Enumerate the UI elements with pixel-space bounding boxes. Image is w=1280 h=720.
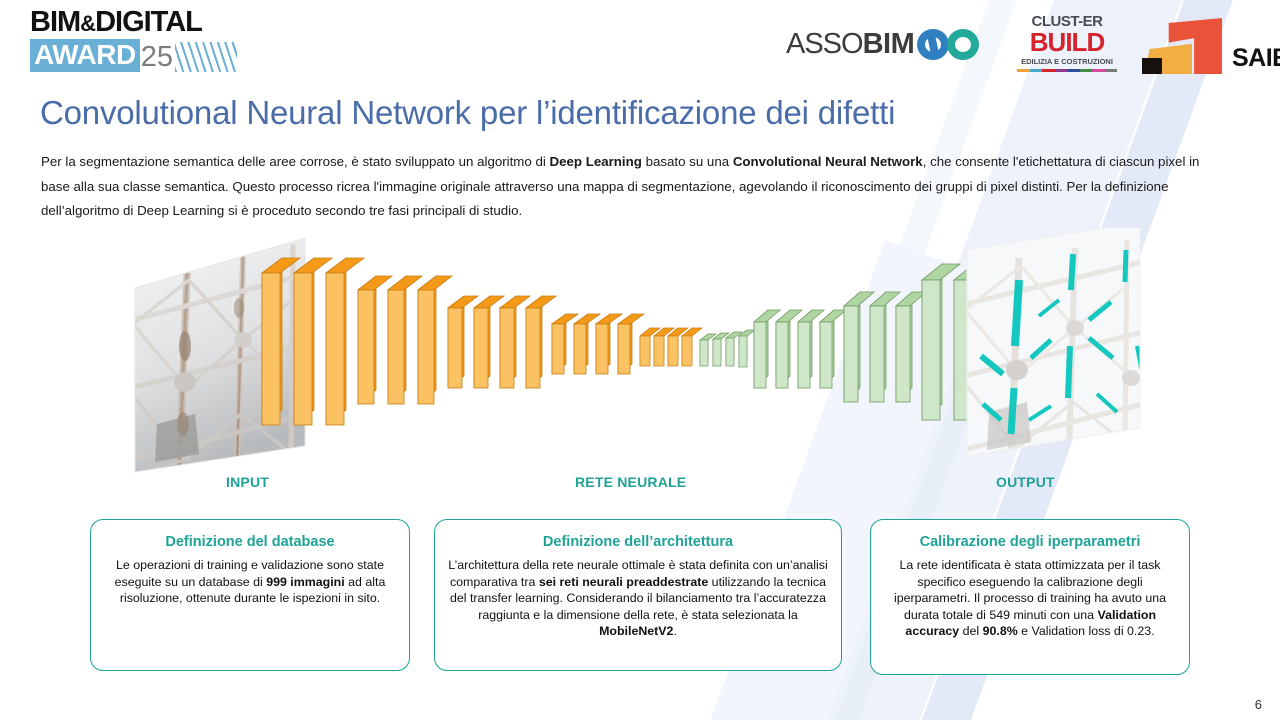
- cnn-architecture-diagram: [0, 228, 1280, 490]
- bda-ampersand: &: [80, 11, 95, 36]
- card-1-title: Definizione del database: [103, 534, 397, 550]
- cluster-color-strip-icon: [1017, 69, 1117, 72]
- card-1-body: Le operazioni di training e validazione …: [103, 557, 397, 607]
- cnn-diagram-svg: [0, 228, 1280, 490]
- page-title: Convolutional Neural Network per l’ident…: [40, 94, 895, 132]
- bda-second-row: AWARD 25: [30, 39, 245, 72]
- card-calibrazione-iperparametri: Calibrazione degli iperparametri La rete…: [870, 519, 1190, 675]
- card-3-text-c: e Validation loss di 0.23.: [1018, 624, 1155, 638]
- card-definizione-database: Definizione del database Le operazioni d…: [90, 519, 410, 671]
- assobim-bim-text: BIM: [863, 28, 915, 61]
- saie-wordmark-text: SAIE: [1232, 44, 1280, 73]
- bda-year-text: 25: [140, 43, 173, 72]
- card-2-body: L’architettura della rete neurale ottima…: [447, 557, 829, 640]
- header-logo-bar: BIM&DIGITAL AWARD 25 ASSOBIM CLUST-ER BU…: [0, 0, 1280, 92]
- card-1-bold-999-immagini: 999 immagini: [266, 575, 345, 589]
- page-number: 6: [1255, 697, 1262, 712]
- saie-black-square: [1142, 58, 1162, 74]
- cluster-build-text: BUILD: [1017, 29, 1117, 55]
- card-3-title: Calibrazione degli iperparametri: [883, 534, 1177, 550]
- bim-digital-award-logo: BIM&DIGITAL AWARD 25: [30, 8, 245, 72]
- label-rete-neurale: RETE NEURALE: [575, 474, 686, 490]
- bda-digital-text: DIGITAL: [95, 6, 202, 38]
- label-output: OUTPUT: [996, 474, 1055, 490]
- bim-digital-wordmark: BIM&DIGITAL: [30, 8, 245, 37]
- assobim-infinity-icon: [917, 29, 985, 60]
- cluster-subtitle-text: EDILIZIA E COSTRUZIONI: [1017, 57, 1117, 66]
- slide-root: BIM&DIGITAL AWARD 25 ASSOBIM CLUST-ER BU…: [0, 0, 1280, 720]
- clust-er-build-logo: CLUST-ER BUILD EDILIZIA E COSTRUZIONI: [1017, 14, 1117, 72]
- assobim-asso-text: ASSO: [786, 28, 863, 61]
- output-segmentation-image: [963, 228, 1143, 460]
- saie-mark-icon: [1138, 18, 1230, 74]
- card-2-text-c: .: [673, 624, 676, 638]
- assobim-ring-teal: [947, 29, 979, 60]
- label-input: INPUT: [226, 474, 269, 490]
- bda-bim-text: BIM: [30, 6, 80, 38]
- decoder-layers: [700, 264, 992, 420]
- card-2-bold-mobilenetv2: MobileNetV2: [599, 624, 673, 638]
- bda-award-text: AWARD: [30, 39, 140, 72]
- card-definizione-architettura: Definizione dell’architettura L’architet…: [434, 519, 842, 671]
- paragraph-bold-cnn: Convolutional Neural Network: [733, 154, 923, 169]
- bda-hatch-icon: [175, 42, 237, 72]
- card-2-title: Definizione dell’architettura: [447, 534, 829, 550]
- paragraph-segment: basato su una: [642, 154, 733, 169]
- paragraph-segment: Per la segmentazione semantica delle are…: [41, 154, 550, 169]
- intro-paragraph: Per la segmentazione semantica delle are…: [41, 150, 1211, 224]
- saie-logo: SAIE: [1138, 18, 1280, 74]
- paragraph-bold-deep-learning: Deep Learning: [550, 154, 642, 169]
- card-3-bold-accuracy-value: 90.8%: [983, 624, 1018, 638]
- diagram-segment-labels: INPUT RETE NEURALE OUTPUT: [0, 474, 1280, 496]
- card-3-body: La rete identificata è stata ottimizzata…: [883, 557, 1177, 640]
- three-phase-cards: Definizione del database Le operazioni d…: [0, 519, 1280, 674]
- card-3-text-b: del: [959, 624, 982, 638]
- assobim-logo: ASSOBIM: [786, 28, 985, 61]
- encoder-layers: [262, 258, 702, 425]
- card-2-bold-sei-reti: sei reti neurali preaddestrate: [539, 575, 708, 589]
